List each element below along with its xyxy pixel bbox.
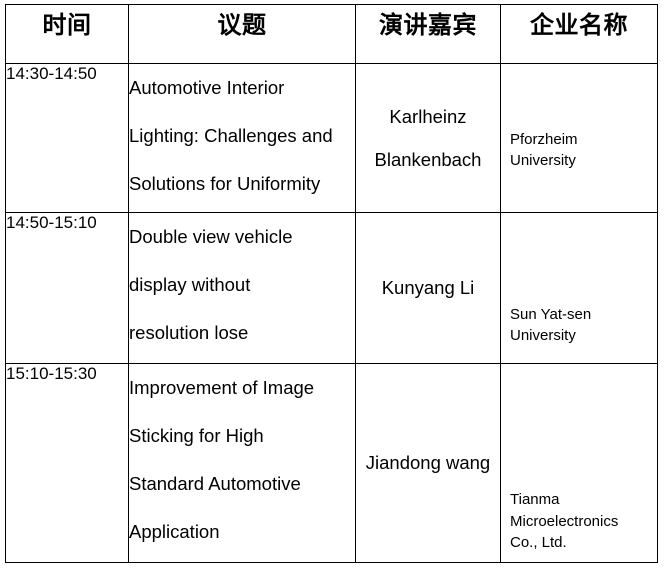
company-line: Tianma [510, 489, 653, 511]
table-row: 14:50-15:10 Double view vehicle display … [6, 213, 658, 364]
column-header-time: 时间 [6, 5, 129, 64]
cell-topic: Automotive Interior Lighting: Challenges… [129, 64, 356, 213]
topic-line: Solutions for Uniformity [129, 160, 355, 208]
topic-line: Lighting: Challenges and [129, 112, 355, 160]
speaker-line: Jiandong wang [366, 451, 490, 474]
company-line: Co., Ltd. [510, 532, 653, 554]
speaker-line: Karlheinz [389, 105, 466, 128]
topic-line: resolution lose [129, 309, 355, 357]
cell-time: 14:30-14:50 [6, 64, 129, 213]
company-line: Sun Yat-sen [510, 304, 653, 326]
company-name: Sun Yat-sen University [501, 213, 657, 363]
speaker-name: Kunyang Li [356, 213, 500, 363]
company-line: Pforzheim [510, 129, 653, 151]
topic-line: display without [129, 261, 355, 309]
cell-time: 15:10-15:30 [6, 364, 129, 563]
topic-line: Improvement of Image [129, 364, 355, 412]
cell-topic: Improvement of Image Sticking for High S… [129, 364, 356, 563]
company-name: Tianma Microelectronics Co., Ltd. [501, 364, 657, 562]
cell-topic: Double view vehicle display without reso… [129, 213, 356, 364]
column-header-company: 企业名称 [501, 5, 658, 64]
cell-speaker: Karlheinz Blankenbach [356, 64, 501, 213]
speaker-name: Jiandong wang [356, 364, 500, 562]
topic-line: Automotive Interior [129, 64, 355, 112]
topic-line: Application [129, 508, 355, 556]
table-header-row: 时间 议题 演讲嘉宾 企业名称 [6, 5, 658, 64]
cell-company: Sun Yat-sen University [501, 213, 658, 364]
speaker-line: Kunyang Li [382, 276, 475, 299]
topic-line: Double view vehicle [129, 213, 355, 261]
table-row: 14:30-14:50 Automotive Interior Lighting… [6, 64, 658, 213]
topic-line: Sticking for High [129, 412, 355, 460]
conference-schedule-table: 时间 议题 演讲嘉宾 企业名称 14:30-14:50 Automotive I… [5, 4, 658, 563]
column-header-speaker: 演讲嘉宾 [356, 5, 501, 64]
cell-company: Pforzheim University [501, 64, 658, 213]
company-name: Pforzheim University [501, 64, 657, 212]
table-row: 15:10-15:30 Improvement of Image Stickin… [6, 364, 658, 563]
column-header-topic: 议题 [129, 5, 356, 64]
cell-time: 14:50-15:10 [6, 213, 129, 364]
company-line: University [510, 325, 653, 347]
cell-speaker: Jiandong wang [356, 364, 501, 563]
speaker-line: Blankenbach [375, 148, 482, 171]
cell-speaker: Kunyang Li [356, 213, 501, 364]
cell-company: Tianma Microelectronics Co., Ltd. [501, 364, 658, 563]
topic-line: Standard Automotive [129, 460, 355, 508]
company-line: University [510, 150, 653, 172]
speaker-name: Karlheinz Blankenbach [356, 64, 500, 212]
company-line: Microelectronics [510, 511, 653, 533]
